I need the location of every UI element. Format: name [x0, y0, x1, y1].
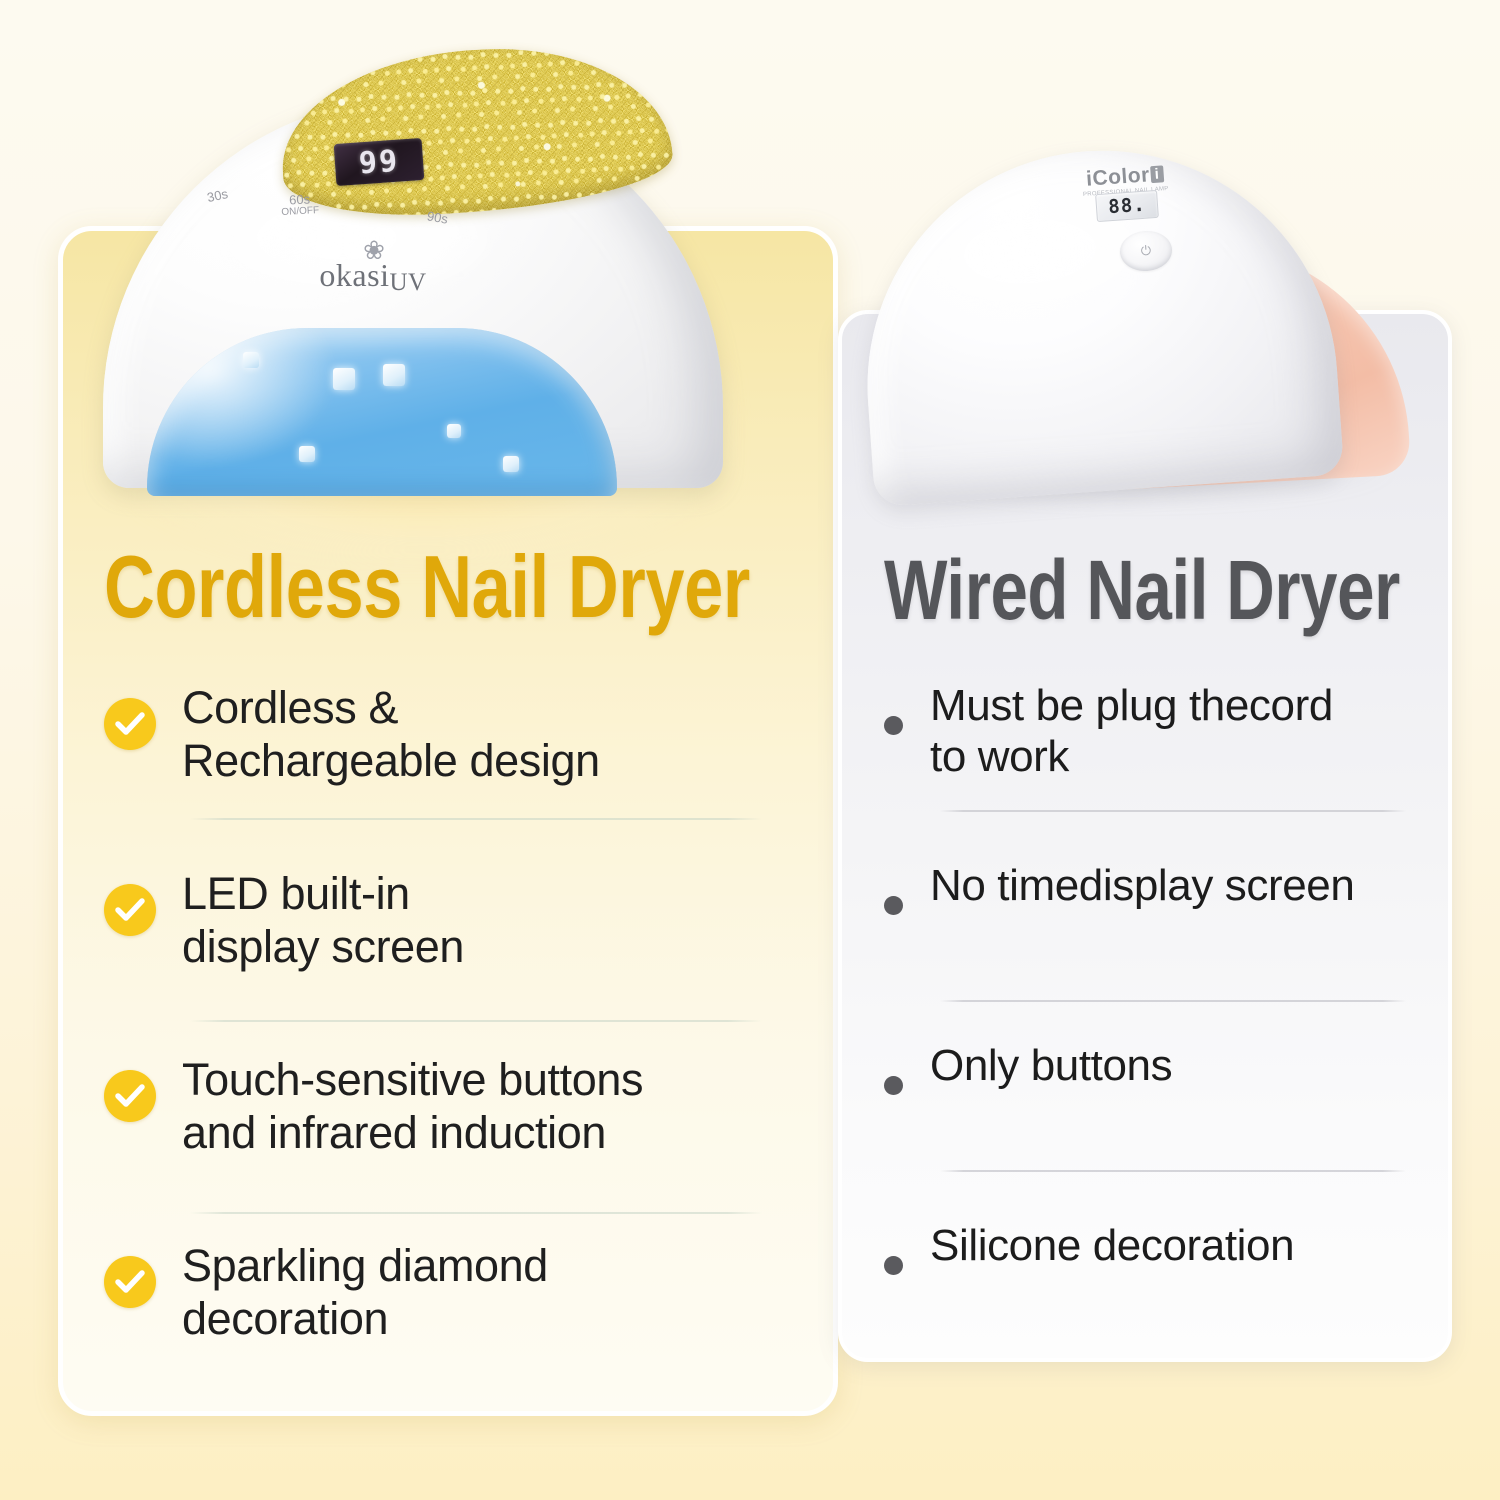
brand-logo-okasiuv: ❀ okasiUV: [293, 241, 453, 295]
brand-name: okasiUV: [293, 259, 453, 295]
check-icon: [104, 1070, 156, 1122]
brand-name-text: iColor: [1085, 163, 1150, 190]
feature-label: Silicone decoration: [930, 1206, 1294, 1271]
bullet-dot-icon: [884, 1076, 903, 1095]
feature-item: LED built-indisplay screen: [104, 854, 784, 1040]
feature-label: Sparkling diamonddecoration: [182, 1226, 548, 1345]
feature-item: Sparkling diamonddecoration: [104, 1226, 784, 1412]
cordless-nail-dryer-image: 99 30s 60s ON/OFF 90s ❀ okasiUV: [85, 38, 785, 518]
wired-nail-dryer-image: iColori PROFESSIONAL NAIL LAMP 88. ⏻: [855, 135, 1425, 535]
bullet-dot-icon: [884, 716, 903, 735]
led-chip: [243, 352, 259, 368]
feature-label: No timedisplay screen: [930, 846, 1354, 911]
cordless-feature-list: Cordless &Rechargeable designLED built-i…: [104, 668, 784, 1412]
led-chip: [383, 364, 405, 386]
check-icon: [104, 884, 156, 936]
feature-item: No timedisplay screen: [884, 846, 1424, 1026]
check-icon: [104, 1256, 156, 1308]
timer-label-60s[interactable]: 60s ON/OFF: [280, 192, 319, 219]
lcd-value: 88.: [1108, 194, 1147, 219]
feature-label: Must be plug thecordto work: [930, 666, 1333, 783]
led-chip: [333, 368, 355, 390]
led-chip: [299, 446, 315, 462]
led-chip: [447, 424, 461, 438]
brand-badge: i: [1150, 165, 1164, 183]
feature-label: Only buttons: [930, 1026, 1172, 1091]
timer-label-onoff-text: ON/OFF: [281, 206, 319, 219]
bullet-dot-icon: [884, 896, 903, 915]
feature-label: Cordless &Rechargeable design: [182, 668, 600, 787]
led-chip: [503, 456, 519, 472]
feature-item: Must be plug thecordto work: [884, 666, 1424, 846]
feature-item: Cordless &Rechargeable design: [104, 668, 784, 854]
power-icon: ⏻: [1140, 243, 1151, 260]
right-panel-heading: Wired Nail Dryer: [884, 542, 1400, 639]
brand-name-text: okasi: [319, 257, 389, 293]
feature-item: Only buttons: [884, 1026, 1424, 1206]
feature-label: LED built-indisplay screen: [182, 854, 464, 973]
lcd-display: 99: [334, 138, 425, 186]
brand-suffix-text: UV: [389, 269, 426, 296]
feature-label: Touch-sensitive buttonsand infrared indu…: [182, 1040, 643, 1159]
left-panel-heading: Cordless Nail Dryer: [104, 536, 750, 638]
wired-feature-list: Must be plug thecordto workNo timedispla…: [884, 666, 1424, 1386]
check-icon: [104, 698, 156, 750]
feature-item: Touch-sensitive buttonsand infrared indu…: [104, 1040, 784, 1226]
feature-item: Silicone decoration: [884, 1206, 1424, 1386]
lcd-display: 88.: [1095, 190, 1159, 222]
lcd-value: 99: [358, 143, 400, 181]
bullet-dot-icon: [884, 1256, 903, 1275]
